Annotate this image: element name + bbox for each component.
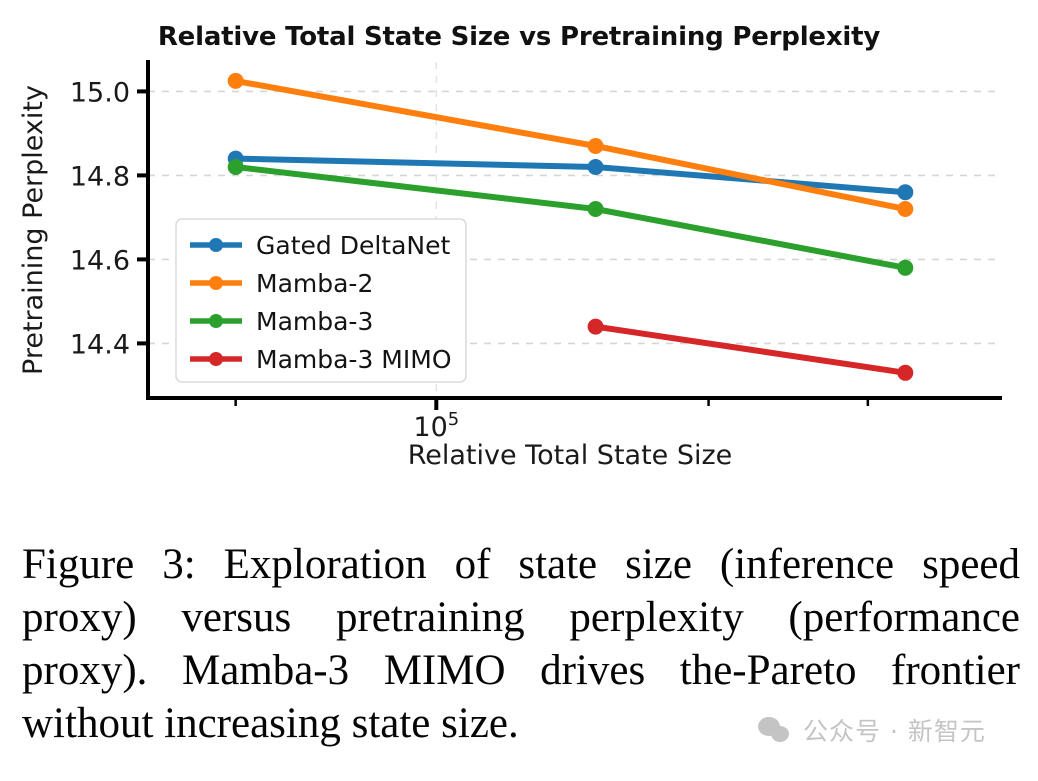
series-line-3 (596, 327, 906, 373)
legend-label-2: Mamba-3 (256, 307, 373, 336)
data-point (588, 159, 604, 175)
data-point (588, 201, 604, 217)
data-point (228, 159, 244, 175)
chart-legend[interactable]: Gated DeltaNetMamba-2Mamba-3Mamba-3 MIMO (176, 219, 466, 382)
legend-marker-3 (209, 352, 223, 366)
data-point (588, 319, 604, 335)
chart-plot-area: 15.014.814.614.4 105 Pretraining Perplex… (0, 0, 1038, 500)
data-point (897, 260, 913, 276)
x-axis-ticks: 105 (236, 398, 868, 443)
svg-text:105: 105 (413, 409, 459, 443)
data-point (897, 201, 913, 217)
legend-marker-2 (209, 314, 223, 328)
data-point (897, 184, 913, 200)
line-chart-svg: 15.014.814.614.4 105 Pretraining Perplex… (0, 0, 1038, 500)
svg-text:14.4: 14.4 (70, 329, 130, 360)
svg-text:14.6: 14.6 (70, 245, 130, 276)
legend-label-1: Mamba-2 (256, 269, 373, 298)
figure-3: Relative Total State Size vs Pretraining… (0, 0, 1038, 500)
svg-text:15.0: 15.0 (70, 77, 130, 108)
y-axis-title: Pretraining Perplexity (18, 85, 49, 375)
wechat-icon (758, 715, 792, 745)
legend-label-3: Mamba-3 MIMO (256, 345, 452, 374)
series-line-1 (236, 81, 906, 209)
data-point (588, 138, 604, 154)
data-point (228, 73, 244, 89)
watermark: 公众号 · 新智元 (758, 712, 986, 748)
x-axis-title: Relative Total State Size (408, 440, 733, 471)
legend-marker-0 (209, 238, 223, 252)
legend-marker-1 (209, 276, 223, 290)
legend-label-0: Gated DeltaNet (256, 231, 450, 260)
y-axis-ticks: 15.014.814.614.4 (70, 77, 148, 360)
data-point (897, 365, 913, 381)
watermark-text: 公众号 · 新智元 (803, 712, 986, 748)
svg-text:14.8: 14.8 (70, 161, 130, 192)
